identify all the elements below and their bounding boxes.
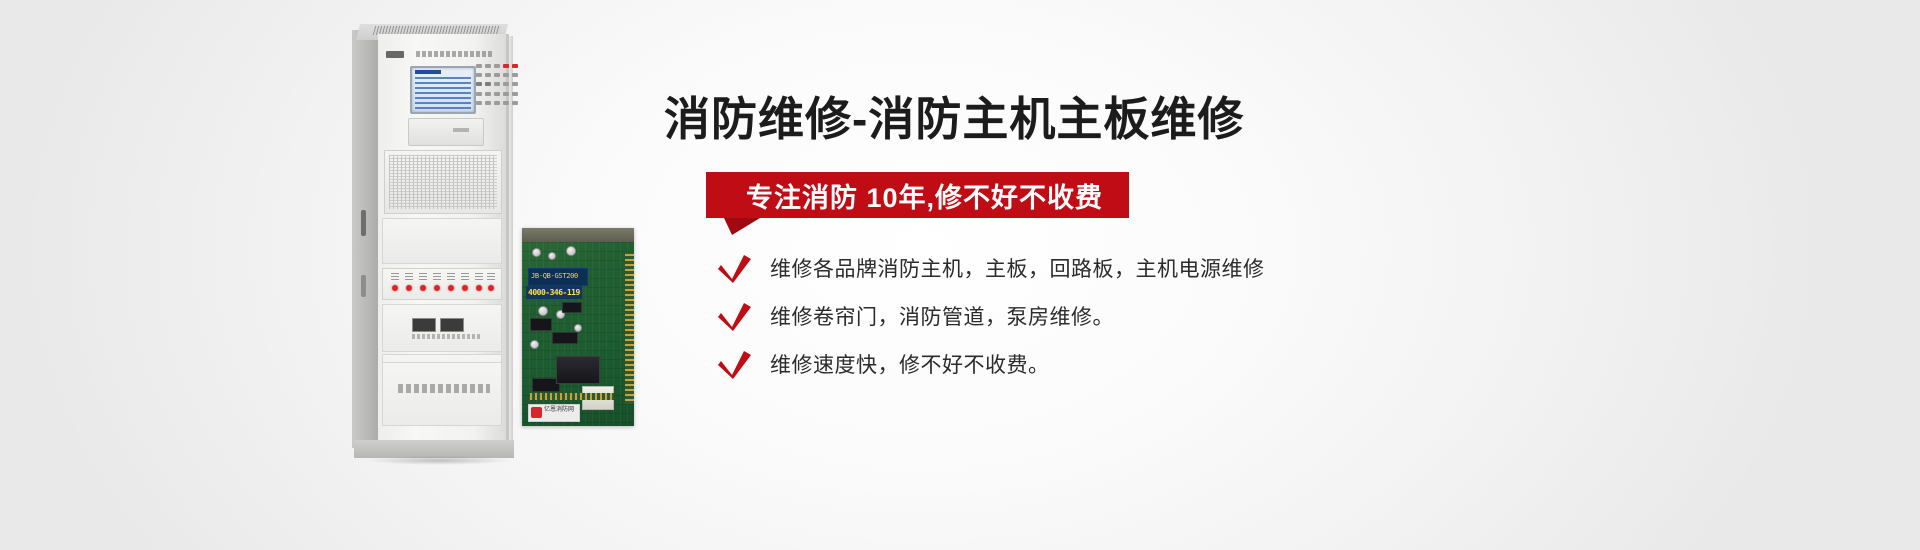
- check-icon: [718, 253, 758, 283]
- pcb-microcontroller: [556, 356, 600, 384]
- cabinet-side-panel: [352, 30, 380, 448]
- cabinet-shadow: [366, 456, 512, 465]
- pcb-top-edge: [522, 228, 634, 242]
- pcb-ic-chip: [562, 302, 582, 313]
- cabinet-brand-plate: [398, 384, 490, 393]
- cabinet-brand-row: [386, 50, 496, 60]
- cabinet-front-face: [378, 34, 509, 454]
- pcb-serial-label: 4000-346-119: [526, 286, 582, 299]
- list-item-label: 维修卷帘门，消防管道，泵房维修。: [770, 301, 1114, 331]
- pcb-model-label: JB-QB-GST200: [528, 268, 588, 286]
- cabinet-module-label: [412, 334, 482, 339]
- pcb-edge-connector-right: [625, 254, 634, 404]
- pcb-watermark-logo: 亿恩消防网: [528, 404, 580, 422]
- terminal-columns: [389, 155, 497, 209]
- watermark-text: 亿恩消防网: [544, 407, 574, 413]
- cabinet-power-meters: [382, 318, 500, 342]
- cabinet-keypad: [476, 64, 524, 114]
- pcb-capacitor: [530, 340, 539, 349]
- pcb-ic-chip: [530, 318, 552, 331]
- pcb-ic-chip: [552, 332, 578, 344]
- pcb-capacitor: [574, 324, 582, 332]
- cabinet-led-indicator-bar: [382, 268, 502, 300]
- pcb-edge-connector-bottom: [530, 393, 614, 400]
- list-item: 维修卷帘门，消防管道，泵房维修。: [718, 294, 1418, 338]
- cabinet-printer-slot: [408, 118, 484, 146]
- cabinet-logo-mark: [386, 51, 404, 58]
- list-item-label: 维修速度快，修不好不收费。: [770, 349, 1050, 379]
- current-meter: [440, 318, 464, 332]
- watermark-mark-icon: [531, 407, 542, 418]
- mainboard-pcb-image: JB-QB-GST200 4000-346-119 亿恩消防网: [522, 228, 634, 426]
- pcb-serial-text: 4000-346-119: [528, 288, 580, 297]
- check-icon: [718, 301, 758, 331]
- ribbon-fold-tail: [724, 218, 760, 235]
- cabinet-blank-panel-3: [382, 362, 502, 426]
- fire-alarm-cabinet-image: [352, 12, 520, 460]
- pcb-capacitor: [566, 246, 576, 256]
- cabinet-lcd-screen: [410, 66, 476, 114]
- page-title: 消防维修-消防主机主板维修: [664, 96, 1244, 142]
- pcb-capacitor: [532, 248, 541, 257]
- tagline-ribbon: 专注消防 10年,修不好不收费: [706, 172, 1129, 218]
- cabinet-model-text: [416, 51, 492, 57]
- pcb-capacitor: [548, 252, 556, 260]
- list-item: 维修速度快，修不好不收费。: [718, 342, 1418, 386]
- ribbon-label: 专注消防 10年,修不好不收费: [746, 176, 1103, 215]
- lcd-header-bar: [415, 70, 441, 74]
- pcb-model-text: JB-QB-GST200: [531, 272, 578, 280]
- cabinet-terminal-block: [384, 150, 502, 214]
- list-item-label: 维修各品牌消防主机，主板，回路板，主机电源维修: [770, 253, 1265, 283]
- pcb-capacitor: [538, 306, 548, 316]
- list-item: 维修各品牌消防主机，主板，回路板，主机电源维修: [718, 246, 1418, 290]
- feature-list: 维修各品牌消防主机，主板，回路板，主机电源维修 维修卷帘门，消防管道，泵房维修。…: [718, 246, 1418, 390]
- lcd-text-rows: [415, 77, 471, 109]
- promo-banner: JB-QB-GST200 4000-346-119 亿恩消防网 消防维修-消防主…: [0, 0, 1920, 550]
- check-icon: [718, 349, 758, 379]
- voltage-meter: [412, 318, 436, 332]
- ribbon-body: 专注消防 10年,修不好不收费: [706, 172, 1129, 218]
- cabinet-blank-panel-1: [382, 218, 502, 264]
